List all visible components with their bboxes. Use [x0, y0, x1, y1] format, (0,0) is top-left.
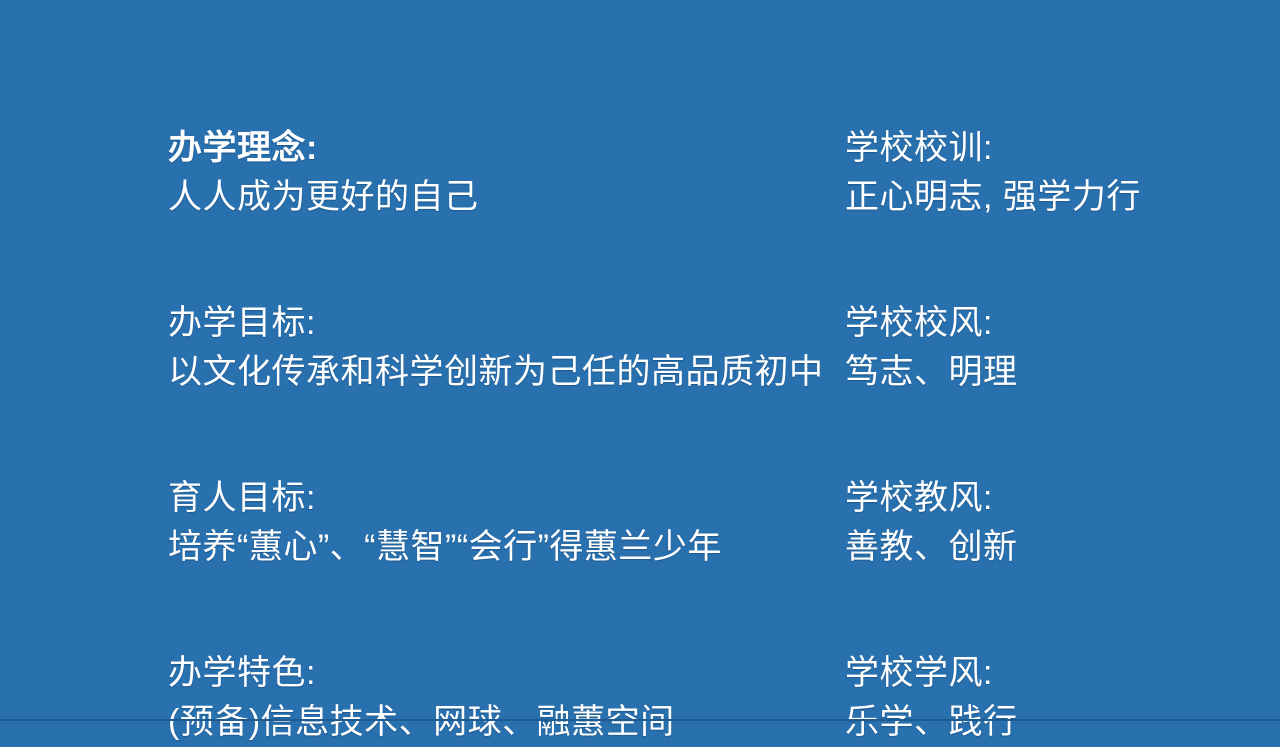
group-teaching-style: 学校教风: 善教、创新 [845, 474, 1245, 572]
group-school-features: 办学特色: (预备)信息技术、网球、融蕙空间 [168, 649, 808, 747]
label-teaching-style: 学校教风: [845, 474, 1245, 523]
value-philosophy: 人人成为更好的自己 [168, 173, 808, 222]
value-school-ethos: 笃志、明理 [845, 348, 1245, 397]
label-education-goal: 育人目标: [168, 474, 808, 523]
group-school-ethos: 学校校风: 笃志、明理 [845, 299, 1245, 397]
value-school-features: (预备)信息技术、网球、融蕙空间 [168, 698, 808, 747]
value-teaching-style: 善教、创新 [845, 523, 1245, 572]
value-education-goal: 培养“蕙心”、“慧智”“会行”得蕙兰少年 [168, 523, 808, 572]
slide-canvas: 办学理念: 人人成为更好的自己 办学目标: 以文化传承和科学创新为己任的高品质初… [0, 0, 1280, 721]
left-column: 办学理念: 人人成为更好的自己 办学目标: 以文化传承和科学创新为己任的高品质初… [168, 124, 808, 747]
value-learning-style: 乐学、践行 [845, 698, 1245, 747]
label-school-motto: 学校校训: [845, 124, 1245, 173]
group-school-motto: 学校校训: 正心明志, 强学力行 [845, 124, 1245, 222]
label-school-features: 办学特色: [168, 649, 808, 698]
group-philosophy: 办学理念: 人人成为更好的自己 [168, 124, 808, 222]
group-learning-style: 学校学风: 乐学、践行 [845, 649, 1245, 747]
right-column: 学校校训: 正心明志, 强学力行 学校校风: 笃志、明理 学校教风: 善教、创新… [845, 124, 1245, 747]
group-school-goal: 办学目标: 以文化传承和科学创新为己任的高品质初中 [168, 299, 808, 397]
label-school-goal: 办学目标: [168, 299, 808, 348]
label-school-ethos: 学校校风: [845, 299, 1245, 348]
value-school-motto: 正心明志, 强学力行 [845, 173, 1245, 222]
label-learning-style: 学校学风: [845, 649, 1245, 698]
label-philosophy: 办学理念: [168, 124, 808, 173]
group-education-goal: 育人目标: 培养“蕙心”、“慧智”“会行”得蕙兰少年 [168, 474, 808, 572]
value-school-goal: 以文化传承和科学创新为己任的高品质初中 [168, 348, 808, 397]
